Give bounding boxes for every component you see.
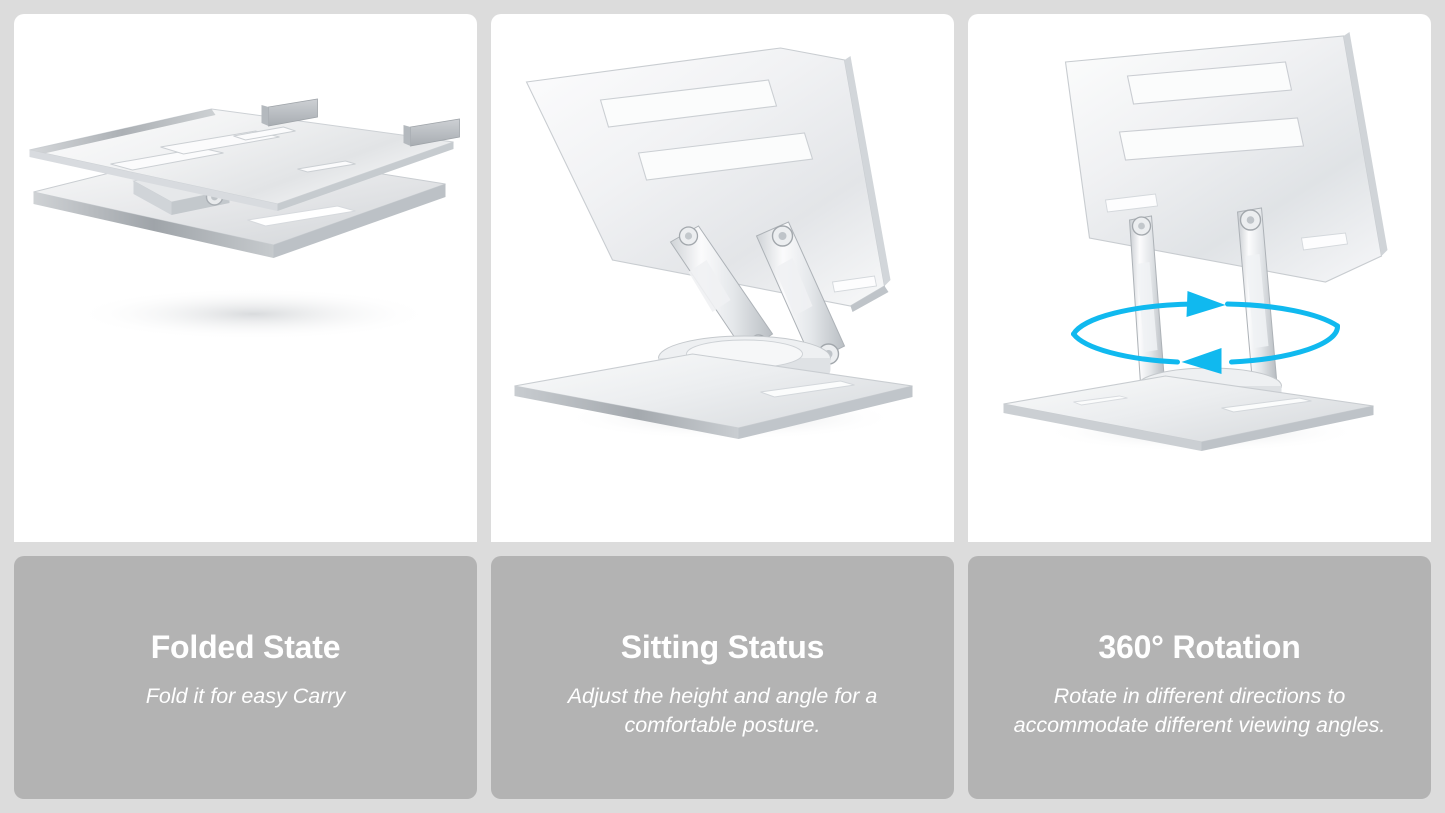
caption-block-360-rotation: 360° Rotation Rotate in different direct… [968, 556, 1431, 799]
rotation-arrow-indicator [1074, 291, 1338, 374]
rotation-arc-upper-2 [1228, 304, 1338, 326]
product-photo-360-rotation [968, 14, 1431, 542]
rotation-arc-upper [1074, 304, 1194, 334]
panel-subtitle: Rotate in different directions to accomm… [1005, 682, 1395, 741]
panel-title: Folded State [151, 631, 341, 665]
panel-subtitle: Adjust the height and angle for a comfor… [543, 682, 903, 741]
rotation-stand-illustration [968, 14, 1431, 542]
feature-panel-sitting-status: Sitting Status Adjust the height and ang… [491, 14, 954, 799]
product-photo-sitting-status [491, 14, 954, 542]
rotation-arrowhead-right [1187, 291, 1226, 317]
product-photo-folded-state [14, 14, 477, 542]
caption-block-folded-state: Folded State Fold it for easy Carry [14, 556, 477, 799]
panel-title: 360° Rotation [1098, 631, 1300, 665]
panel-title: Sitting Status [621, 631, 824, 665]
caption-block-sitting-status: Sitting Status Adjust the height and ang… [491, 556, 954, 799]
feature-panel-360-rotation: 360° Rotation Rotate in different direct… [968, 14, 1431, 799]
top-plate-rear [1066, 32, 1388, 282]
feature-panel-folded-state: Folded State Fold it for easy Carry [14, 14, 477, 799]
rotation-arc-lower [1232, 326, 1338, 362]
feature-panel-board: Folded State Fold it for easy Carry [0, 0, 1445, 813]
drop-shadow [74, 288, 434, 340]
folded-stand-illustration [14, 14, 477, 542]
sitting-stand-illustration [491, 14, 954, 542]
panel-subtitle: Fold it for easy Carry [146, 682, 346, 712]
